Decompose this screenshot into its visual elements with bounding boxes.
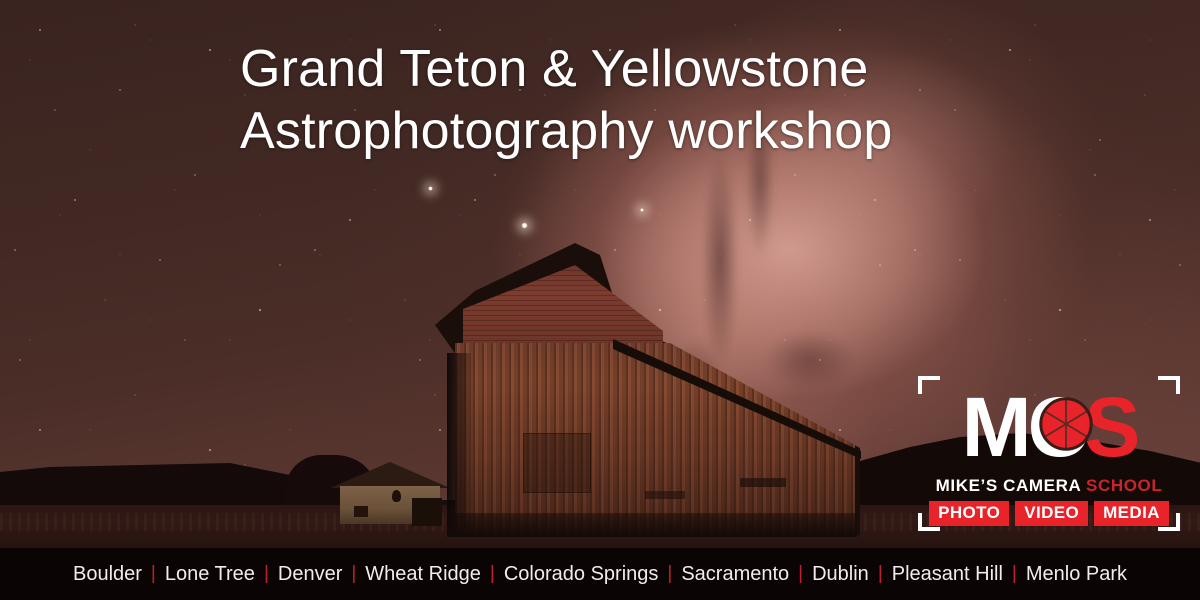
badge-photo: PHOTO [929, 501, 1009, 526]
badge-media: MEDIA [1094, 501, 1169, 526]
locations-bar: Boulder|Lone Tree|Denver|Wheat Ridge|Col… [0, 548, 1200, 600]
city-label: Sacramento [672, 563, 798, 586]
barn-side-shadow [447, 353, 471, 535]
logo-wordmark-secondary: SCHOOL [1081, 476, 1163, 495]
barn-gable [463, 265, 663, 345]
badge-video: VIDEO [1015, 501, 1088, 526]
city-label: Wheat Ridge [356, 563, 490, 586]
bright-star-icon [521, 222, 528, 229]
logo-wordmark-primary: MIKE’S CAMERA [936, 476, 1081, 495]
city-label: Dublin [803, 563, 878, 586]
logo-letter-m: M [962, 380, 1028, 474]
barn-base-shadow [447, 513, 857, 537]
barn-door [523, 433, 591, 493]
city-label: Colorado Springs [495, 563, 668, 586]
city-label: Denver [269, 563, 351, 586]
wooden-barn [395, 243, 860, 535]
logo-wordmark: MIKE’S CAMERA SCHOOL [918, 476, 1180, 496]
city-label: Menlo Park [1017, 563, 1136, 586]
city-label: Boulder [64, 563, 151, 586]
page-title: Grand Teton & Yellowstone Astrophotograp… [240, 38, 960, 162]
logo-badges: PHOTO VIDEO MEDIA [918, 501, 1180, 526]
city-label: Lone Tree [156, 563, 264, 586]
title-line-2: Astrophotography workshop [240, 100, 960, 162]
bright-star-icon [428, 186, 433, 191]
shed-square-window [354, 506, 368, 517]
city-label: Pleasant Hill [883, 563, 1012, 586]
event-poster: Grand Teton & Yellowstone Astrophotograp… [0, 0, 1200, 600]
bright-star-icon [640, 208, 644, 212]
barn-wall [455, 339, 855, 535]
barn-vent [645, 491, 685, 499]
title-line-1: Grand Teton & Yellowstone [240, 38, 960, 100]
mikes-camera-school-logo[interactable]: MCS MIKE’S CAMERA SCHOOL [918, 376, 1180, 531]
barn-vent [740, 478, 786, 487]
camera-aperture-icon [1036, 394, 1096, 454]
